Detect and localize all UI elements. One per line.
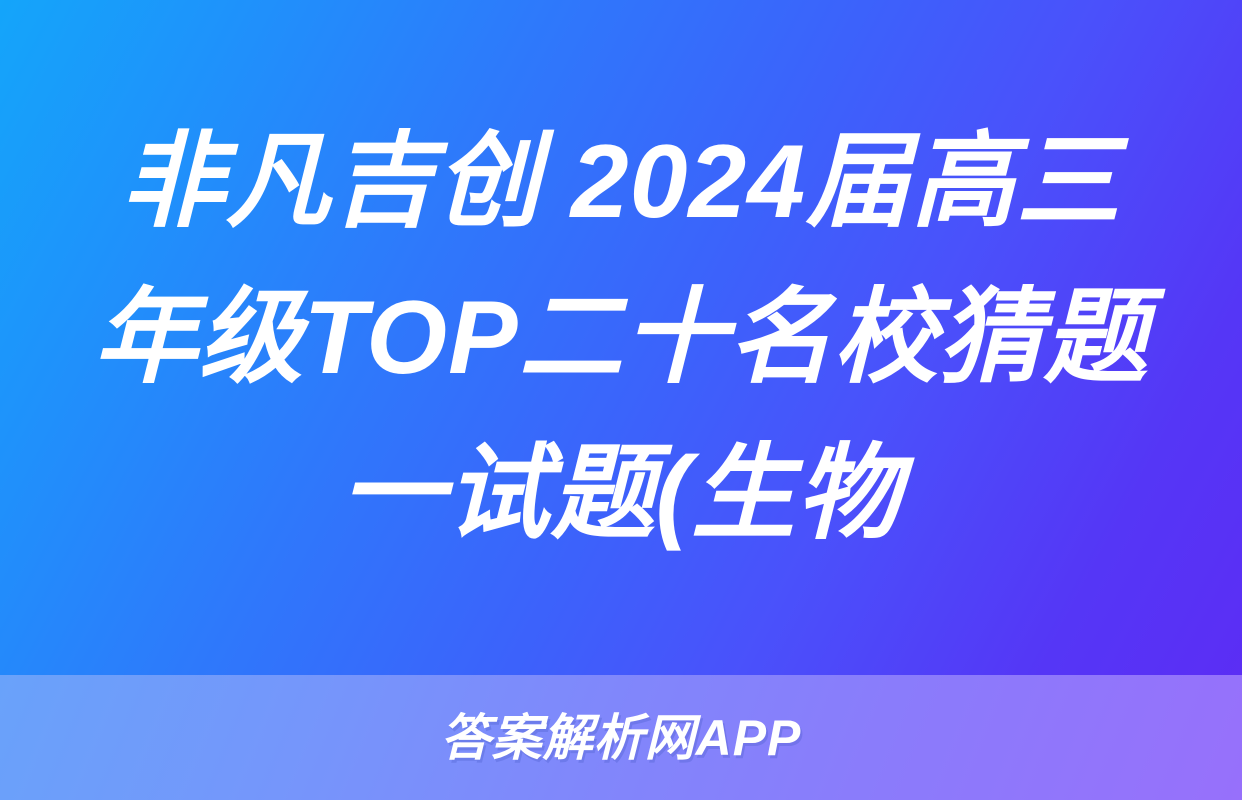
page-title: 非凡吉创 2024届高三年级TOP二十名校猜题一试题(生物 (78, 104, 1164, 572)
footer-watermark-band: 答案解析网APP (0, 675, 1242, 800)
watermark-text: 答案解析网APP (441, 713, 802, 763)
promo-card: 非凡吉创 2024届高三年级TOP二十名校猜题一试题(生物 答案解析网APP (0, 0, 1242, 800)
title-area: 非凡吉创 2024届高三年级TOP二十名校猜题一试题(生物 (0, 0, 1242, 675)
